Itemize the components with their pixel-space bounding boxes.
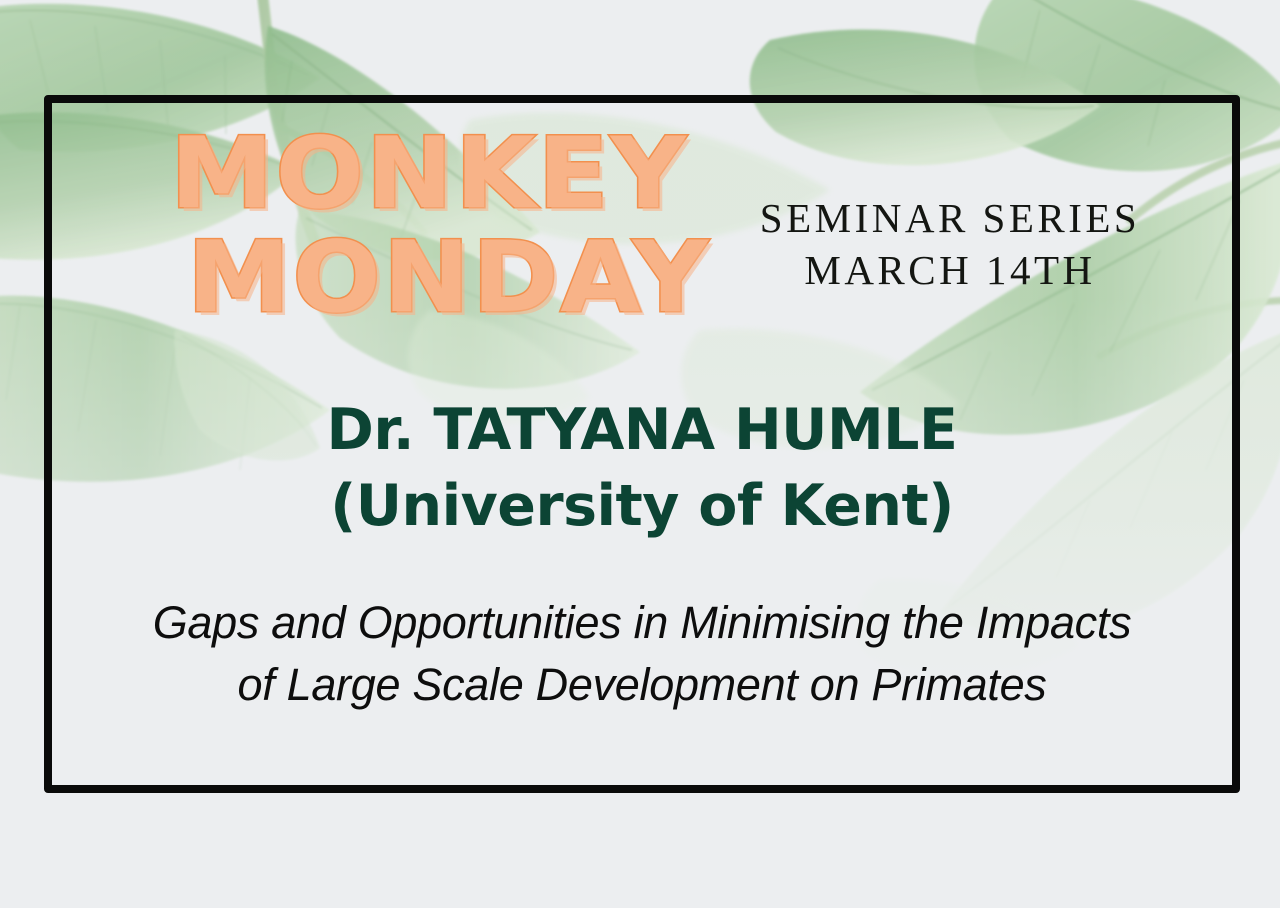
seminar-series-label: SEMINAR SERIES [720,192,1180,244]
speaker-name: Dr. TATYANA HUMLE [44,392,1240,468]
poster-content: MONKEY MONDAY SEMINAR SERIES MARCH 14TH … [0,0,1280,908]
seminar-poster: MONKEY MONDAY SEMINAR SERIES MARCH 14TH … [0,0,1280,908]
event-wordmark: MONKEY MONDAY [170,122,790,330]
seminar-date-block: SEMINAR SERIES MARCH 14TH [720,192,1180,296]
speaker-affiliation: (University of Kent) [44,468,1240,544]
talk-title-block: Gaps and Opportunities in Minimising the… [44,592,1240,716]
seminar-date-label: MARCH 14TH [720,244,1180,296]
talk-title-line-2: of Large Scale Development on Primates [44,654,1240,716]
talk-title-line-1: Gaps and Opportunities in Minimising the… [44,592,1240,654]
speaker-block: Dr. TATYANA HUMLE (University of Kent) [44,392,1240,544]
